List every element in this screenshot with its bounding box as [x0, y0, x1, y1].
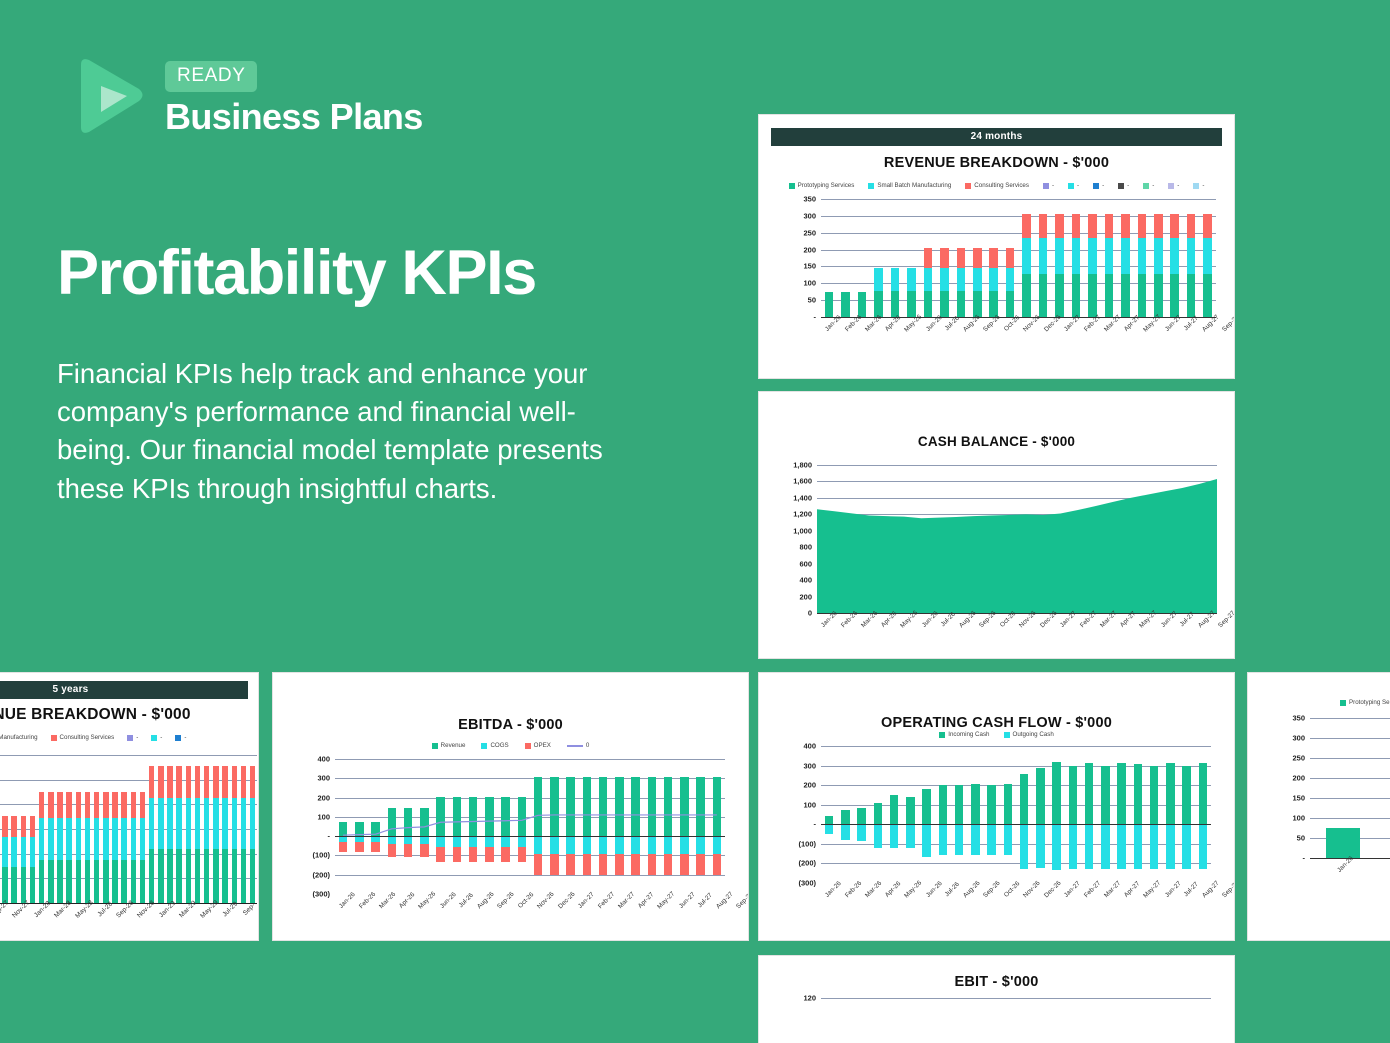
- bar-column: [1097, 746, 1113, 883]
- bar-column: [0, 755, 9, 903]
- bar-column: [1167, 199, 1183, 317]
- bar-segment: [167, 766, 173, 797]
- bar-column: [138, 755, 147, 903]
- bar-segment: [1117, 763, 1125, 824]
- bar-segment: [11, 837, 17, 867]
- y-axis-tick: -: [814, 820, 822, 829]
- bar-column: [902, 746, 918, 883]
- bar-segment: [1170, 274, 1179, 317]
- chart-card-revenue-breakdown-24m[interactable]: 24 months REVENUE BREAKDOWN - $'000 Prot…: [758, 114, 1235, 379]
- y-axis-tick: 200: [1292, 774, 1310, 783]
- bar-segment: [103, 860, 109, 903]
- bar-segment: [1101, 766, 1109, 825]
- bar-segment: [971, 784, 979, 825]
- legend-item: Incoming Cash: [939, 731, 989, 738]
- legend-swatch: [1004, 732, 1010, 738]
- bar-segment: [1022, 238, 1031, 273]
- legend-swatch: [1068, 183, 1074, 189]
- bar-column: [110, 755, 119, 903]
- legend-item: Prototyping Services: [789, 182, 855, 189]
- legend-swatch: [1193, 183, 1199, 189]
- x-axis-tick: Sep-27: [735, 891, 749, 911]
- legend-item: OPEX: [525, 742, 551, 749]
- bar-segment: [1004, 824, 1012, 854]
- bar-segment: [890, 824, 898, 848]
- bar-column: [936, 199, 952, 317]
- y-axis-tick: (300): [798, 879, 821, 888]
- bar-column: [184, 755, 193, 903]
- bar-series: [821, 199, 1216, 317]
- bar-segment: [1121, 214, 1130, 239]
- bar-segment: [1072, 214, 1081, 239]
- legend-label: Incoming Cash: [948, 731, 989, 738]
- bar-segment: [76, 818, 82, 861]
- y-axis-tick: 800: [799, 543, 817, 552]
- y-axis-tick: 250: [803, 228, 821, 237]
- bar-segment: [158, 849, 164, 903]
- bar-column: [1081, 746, 1097, 883]
- bar-segment: [103, 818, 109, 861]
- y-axis-tick: (200): [798, 859, 821, 868]
- bar-segment: [250, 798, 256, 849]
- bar-column: [65, 755, 74, 903]
- zero-axis: [821, 824, 1211, 825]
- y-axis-tick: 200: [803, 245, 821, 254]
- y-axis-tick: 1,600: [793, 477, 817, 486]
- legend-item: Consulting Services: [51, 734, 115, 741]
- bar-segment: [989, 248, 998, 268]
- bar-segment: [1088, 274, 1097, 317]
- bar-segment: [1006, 268, 1015, 292]
- bar-segment: [1121, 238, 1130, 273]
- bar-segment: [1154, 214, 1163, 239]
- legend-item: -: [175, 734, 186, 741]
- bar-segment: [939, 824, 947, 854]
- bar-segment: [906, 797, 914, 825]
- bar-column: [886, 746, 902, 883]
- bar-segment: [112, 818, 118, 861]
- bar-segment: [1055, 238, 1064, 273]
- bar-segment: [85, 792, 91, 818]
- legend-swatch: [525, 743, 531, 749]
- bar-segment: [66, 860, 72, 903]
- bar-segment: [57, 792, 63, 818]
- chart-ribbon: 24 months: [771, 128, 1222, 146]
- bar-segment: [890, 795, 898, 824]
- bar-segment: [158, 766, 164, 797]
- bar-segment: [940, 268, 949, 292]
- bar-segment: [1105, 274, 1114, 317]
- bar-segment: [1170, 238, 1179, 273]
- bar-column: [147, 755, 156, 903]
- bar-column: [1179, 998, 1195, 1043]
- brand-title: Business Plans: [165, 99, 423, 135]
- bar-column: [903, 199, 919, 317]
- y-axis-tick: 350: [1292, 714, 1310, 723]
- y-axis-tick: 100: [1292, 814, 1310, 823]
- chart-legend: Prototyping ServicesSmall Batch Manufact…: [759, 182, 1234, 189]
- bar-segment: [66, 792, 72, 818]
- bar-segment: [1036, 768, 1044, 825]
- bar-column: [248, 755, 257, 903]
- bar-column: [1146, 998, 1162, 1043]
- bar-column: [984, 746, 1000, 883]
- legend-item: -: [127, 734, 138, 741]
- legend-label: Consulting Services: [974, 182, 1029, 189]
- bar-column: [28, 755, 37, 903]
- legend-label: -: [1127, 182, 1129, 189]
- bar-series: [0, 755, 257, 903]
- bar-segment: [973, 268, 982, 292]
- legend-item: -: [1068, 182, 1079, 189]
- bar-segment: [213, 766, 219, 797]
- bar-segment: [874, 824, 882, 848]
- bar-segment: [167, 798, 173, 849]
- bar-segment: [891, 291, 900, 317]
- legend-label: -: [1102, 182, 1104, 189]
- legend-item: Small Batch Manufacturing: [0, 734, 38, 741]
- bar-segment: [131, 792, 137, 818]
- zero-reference-line: [335, 759, 725, 894]
- bar-segment: [121, 860, 127, 903]
- bar-column: [92, 755, 101, 903]
- y-axis-tick: 150: [803, 262, 821, 271]
- bar-segment: [149, 798, 155, 849]
- legend-item: COGS: [481, 742, 508, 749]
- bar-segment: [21, 816, 27, 837]
- bar-column: [101, 755, 110, 903]
- bar-segment: [891, 268, 900, 291]
- bar-segment: [232, 849, 238, 903]
- bar-segment: [1088, 238, 1097, 273]
- bar-segment: [1166, 763, 1174, 824]
- bar-column: [1097, 998, 1113, 1043]
- bar-segment: [1182, 766, 1190, 825]
- legend-swatch: [481, 743, 487, 749]
- legend-swatch: [432, 743, 438, 749]
- legend-item: -: [1193, 182, 1204, 189]
- y-axis-tick: -: [328, 832, 336, 841]
- bar-column: [129, 755, 138, 903]
- bar-segment: [907, 268, 916, 291]
- bar-column: [1049, 998, 1065, 1043]
- bar-column: [969, 199, 985, 317]
- bar-segment: [1022, 274, 1031, 317]
- legend-label: -: [1077, 182, 1079, 189]
- x-axis-tick: Jul-26: [458, 892, 475, 909]
- play-triangle-icon: [75, 55, 147, 135]
- bar-segment: [825, 816, 833, 824]
- bar-segment: [874, 268, 883, 291]
- bar-segment: [30, 837, 36, 867]
- bar-column: [1081, 998, 1097, 1043]
- bar-segment: [232, 766, 238, 797]
- bar-segment: [1138, 214, 1147, 239]
- y-axis-tick: (100): [312, 851, 335, 860]
- bar-segment: [1055, 214, 1064, 239]
- bar-column: [211, 755, 220, 903]
- legend-label: Small Batch Manufacturing: [0, 734, 38, 741]
- legend-label: -: [160, 734, 162, 741]
- bar-column: [870, 746, 886, 883]
- bar-segment: [21, 837, 27, 867]
- bar-column: [221, 755, 230, 903]
- bar-column: [1114, 746, 1130, 883]
- bar-segment: [57, 818, 63, 861]
- y-axis-tick: 1,800: [793, 461, 817, 470]
- bar-segment: [2, 816, 8, 837]
- bar-segment: [11, 816, 17, 837]
- bar-segment: [1085, 763, 1093, 824]
- chart-card-ebit[interactable]: EBIT - $'000 12010080: [758, 955, 1235, 1043]
- y-axis-tick: (100): [798, 839, 821, 848]
- y-axis-tick: 1,400: [793, 493, 817, 502]
- bar-segment: [186, 849, 192, 903]
- chart-title: EBIT - $'000: [759, 974, 1234, 990]
- bar-segment: [85, 818, 91, 861]
- bar-segment: [85, 860, 91, 903]
- legend-swatch: [1043, 183, 1049, 189]
- chart-ribbon: 5 years: [0, 681, 248, 699]
- bar-segment: [167, 849, 173, 903]
- x-axis-labels: Jan-26Feb-26Mar-26Apr-26May-26Jun-26Jul-…: [817, 617, 1217, 624]
- page-description: Financial KPIs help track and enhance yo…: [57, 355, 647, 508]
- chart-title: CASH BALANCE - $'000: [759, 434, 1234, 449]
- bar-segment: [874, 803, 882, 825]
- bar-segment: [841, 292, 850, 317]
- bar-segment: [1138, 238, 1147, 273]
- bar-segment: [1052, 824, 1060, 869]
- y-axis-tick: 250: [1292, 754, 1310, 763]
- legend-swatch: [1093, 183, 1099, 189]
- bar-segment: [48, 792, 54, 818]
- x-axis-tick: Jul-26: [944, 881, 961, 898]
- legend-label: 0: [586, 742, 589, 749]
- bar-column: [202, 755, 211, 903]
- legend-swatch: [1168, 183, 1174, 189]
- bar-segment: [1203, 238, 1212, 273]
- legend-label: Outgoing Cash: [1013, 731, 1054, 738]
- bar-series: [821, 998, 1211, 1043]
- bar-segment: [76, 860, 82, 903]
- bar-segment: [1069, 766, 1077, 825]
- bar-segment: [1022, 214, 1031, 239]
- bar-column: [83, 755, 92, 903]
- bar-segment: [957, 248, 966, 268]
- bar-segment: [825, 292, 834, 317]
- bar-segment: [1069, 824, 1077, 869]
- chart-legend: Small Batch ManufacturingConsulting Serv…: [0, 734, 258, 741]
- bar-segment: [971, 824, 979, 854]
- chart-plot-area: 1,8001,6001,4001,2001,0008006004002000Ja…: [817, 465, 1217, 613]
- bar-column: [1051, 199, 1067, 317]
- legend-item: -: [151, 734, 162, 741]
- bar-segment: [957, 291, 966, 317]
- bar-column: [1150, 199, 1166, 317]
- bar-column: [1114, 998, 1130, 1043]
- brand-text-block: READY Business Plans: [165, 55, 423, 135]
- bar-segment: [11, 867, 17, 903]
- bar-segment: [989, 268, 998, 292]
- bar-column: [1162, 746, 1178, 883]
- bar-segment: [1154, 274, 1163, 317]
- bar-segment: [1072, 274, 1081, 317]
- bar-column: [1130, 746, 1146, 883]
- bar-column: [46, 755, 55, 903]
- y-axis-tick: 300: [803, 211, 821, 220]
- y-axis-tick: 300: [317, 774, 335, 783]
- bar-segment: [1134, 764, 1142, 824]
- chart-card-cash-balance[interactable]: CASH BALANCE - $'000 1,8001,6001,4001,20…: [758, 391, 1235, 659]
- chart-card-revenue-breakdown-5y[interactable]: 5 years REVENUE BREAKDOWN - $'000 Small …: [0, 672, 259, 941]
- bar-segment: [1199, 763, 1207, 824]
- bar-segment: [1088, 214, 1097, 239]
- bar-column: [1084, 199, 1100, 317]
- bar-segment: [186, 766, 192, 797]
- x-axis-tick: Sep-27: [0, 899, 10, 919]
- bar-column: [1016, 998, 1032, 1043]
- legend-swatch: [151, 735, 157, 741]
- bar-segment: [103, 792, 109, 818]
- bar-segment: [48, 860, 54, 903]
- bar-segment: [1039, 238, 1048, 273]
- bar-column: [854, 199, 870, 317]
- legend-label: Small Batch Manufacturing: [877, 182, 951, 189]
- bar-segment: [112, 860, 118, 903]
- bar-segment: [1182, 824, 1190, 869]
- y-axis-tick: 100: [803, 279, 821, 288]
- legend-label: -: [136, 734, 138, 741]
- bar-segment: [1203, 274, 1212, 317]
- bar-segment: [957, 268, 966, 292]
- bar-segment: [2, 837, 8, 867]
- legend-swatch: [1340, 700, 1346, 706]
- y-axis-tick: 0: [808, 609, 817, 618]
- bar-segment: [222, 766, 228, 797]
- bar-segment: [39, 818, 45, 861]
- y-axis-tick: 300: [1292, 734, 1310, 743]
- area-series: [817, 465, 1217, 613]
- bar-segment: [1072, 238, 1081, 273]
- bar-column: [1376, 718, 1390, 858]
- legend-item: -: [1168, 182, 1179, 189]
- bar-column: [1134, 199, 1150, 317]
- bar-column: [1162, 998, 1178, 1043]
- bar-column: [156, 755, 165, 903]
- y-axis-tick: (200): [312, 870, 335, 879]
- bar-segment: [841, 824, 849, 840]
- bar-column: [74, 755, 83, 903]
- legend-item: -: [1143, 182, 1154, 189]
- bar-segment: [1166, 824, 1174, 869]
- bar-segment: [30, 867, 36, 903]
- bar-segment: [204, 798, 210, 849]
- bar-segment: [1055, 274, 1064, 317]
- bar-segment: [195, 798, 201, 849]
- bar-segment: [213, 849, 219, 903]
- y-axis-tick: 50: [1297, 834, 1310, 843]
- bar-segment: [1052, 762, 1060, 825]
- legend-label: -: [1177, 182, 1179, 189]
- bar-column: [1016, 746, 1032, 883]
- bar-column: [821, 746, 837, 883]
- bar-segment: [21, 867, 27, 903]
- bar-segment: [1187, 214, 1196, 239]
- bar-segment: [222, 798, 228, 849]
- bar-segment: [1006, 248, 1015, 268]
- bar-segment: [1154, 238, 1163, 273]
- bar-column: [1117, 199, 1133, 317]
- chart-card-operating-cash-flow[interactable]: OPERATING CASH FLOW - $'000 Incoming Cas…: [758, 672, 1235, 941]
- bar-column: [1183, 199, 1199, 317]
- bar-segment: [39, 860, 45, 903]
- bar-column: [837, 199, 853, 317]
- chart-card-ebitda[interactable]: EBITDA - $'000 RevenueCOGSOPEX0 40030020…: [272, 672, 749, 941]
- bar-series: [1310, 718, 1390, 858]
- x-axis-labels: Jan-26Feb-26Mar-26Apr-26May-26Jun-26Jul-…: [335, 898, 725, 905]
- chart-title: REVENUE BREAKDOWN - $'000: [0, 706, 258, 724]
- legend-swatch: [175, 735, 181, 741]
- bar-segment: [176, 766, 182, 797]
- y-axis-tick: -: [1303, 854, 1311, 863]
- bar-segment: [940, 248, 949, 268]
- bar-segment: [204, 849, 210, 903]
- x-axis-labels: -27Mar-27Jul-27Sep-27Nov-27Jan-28Mar-28M…: [0, 907, 257, 914]
- brand-lockup: READY Business Plans: [75, 55, 423, 135]
- chart-plot-area: 400300200100-(100)(200)(300)Jan-26Feb-26…: [335, 759, 725, 894]
- bar-column: [1146, 746, 1162, 883]
- legend-swatch: [965, 183, 971, 189]
- bar-segment: [140, 792, 146, 818]
- bar-segment: [94, 860, 100, 903]
- bar-segment: [955, 785, 963, 824]
- bar-column: [854, 746, 870, 883]
- chart-card-revenue-breakdown-partial[interactable]: Prototyping Services 3503002502001501005…: [1247, 672, 1390, 941]
- x-axis-tick: Sep-27: [1221, 880, 1235, 900]
- bar-segment: [987, 824, 995, 854]
- bar-segment: [1105, 238, 1114, 273]
- legend-item: Consulting Services: [965, 182, 1029, 189]
- bar-segment: [149, 849, 155, 903]
- bar-column: [967, 746, 983, 883]
- legend-label: -: [1202, 182, 1204, 189]
- chart-plot-area: 12010080: [821, 998, 1211, 1043]
- bar-segment: [1187, 238, 1196, 273]
- bar-segment: [1101, 824, 1109, 869]
- bar-segment: [250, 849, 256, 903]
- bar-column: [193, 755, 202, 903]
- bar-segment: [66, 818, 72, 861]
- bar-column: [870, 199, 886, 317]
- bar-segment: [1105, 214, 1114, 239]
- bar-segment: [131, 818, 137, 861]
- ready-badge: READY: [165, 61, 257, 92]
- chart-plot-area: 400300200100-(100)(200)(300)Jan-26Feb-26…: [821, 746, 1211, 883]
- bar-segment: [1117, 824, 1125, 869]
- bar-segment: [1039, 214, 1048, 239]
- bar-segment: [112, 792, 118, 818]
- bar-segment: [158, 798, 164, 849]
- bar-segment: [841, 810, 849, 825]
- bar-segment: [955, 824, 963, 854]
- chart-plot-area: 35030025020015010050-Jan-26Feb-26Mar-26A…: [1310, 718, 1390, 858]
- bar-column: [1032, 998, 1048, 1043]
- y-axis-tick: 300: [803, 761, 821, 770]
- y-axis-tick: (300): [312, 890, 335, 899]
- bar-segment: [906, 824, 914, 848]
- bar-segment: [858, 292, 867, 317]
- bar-segment: [1134, 824, 1142, 869]
